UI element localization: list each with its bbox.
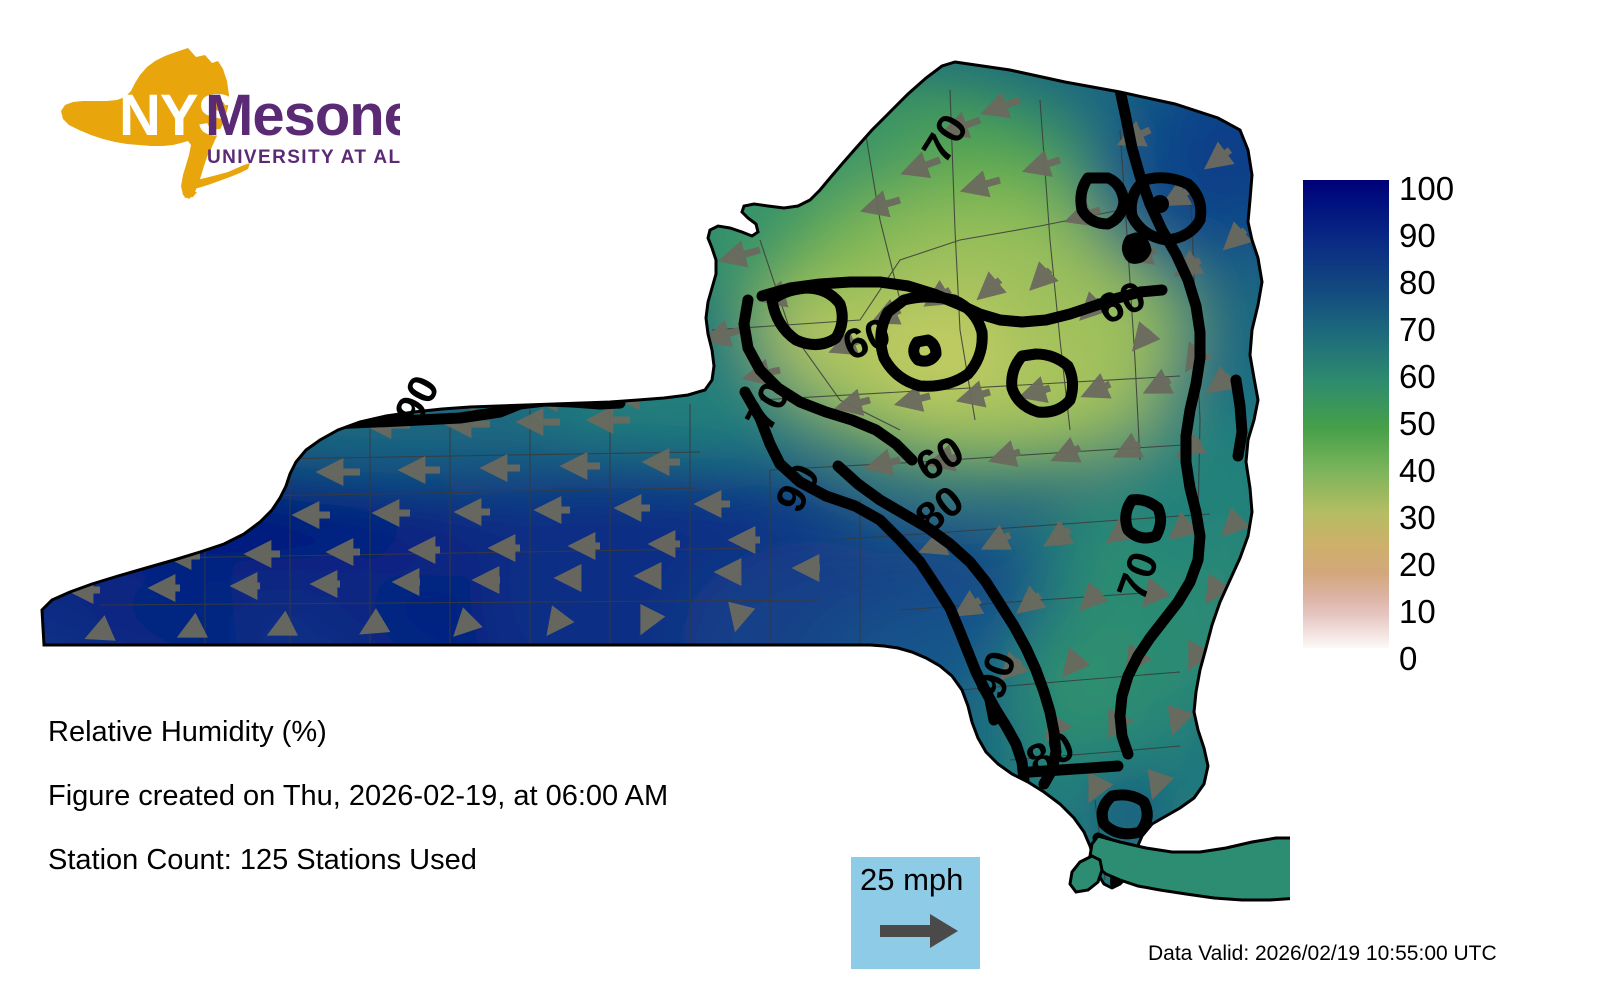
colorbar-tick-90: 90 — [1399, 219, 1436, 252]
station-count: Station Count: 125 Stations Used — [48, 846, 848, 875]
colorbar-tick-40: 40 — [1399, 454, 1436, 487]
colorbar-gradient — [1303, 180, 1389, 648]
colorbar-tick-labels: 100 90 80 70 60 50 40 30 20 10 0 — [1399, 172, 1519, 657]
wind-speed-legend: 25 mph — [851, 857, 980, 969]
page-title: Relative Humidity (%) — [48, 718, 848, 747]
colorbar-tick-0: 0 — [1399, 642, 1417, 675]
wind-arrow-icon — [878, 911, 960, 951]
colorbar: 100 90 80 70 60 50 40 30 20 10 0 — [1303, 172, 1593, 657]
colorbar-tick-50: 50 — [1399, 407, 1436, 440]
colorbar-tick-100: 100 — [1399, 172, 1454, 205]
colorbar-tick-70: 70 — [1399, 313, 1436, 346]
colorbar-tick-30: 30 — [1399, 501, 1436, 534]
colorbar-tick-20: 20 — [1399, 548, 1436, 581]
figure-captions: Relative Humidity (%) Figure created on … — [48, 718, 848, 910]
colorbar-tick-10: 10 — [1399, 595, 1436, 628]
data-valid-timestamp: Data Valid: 2026/02/19 10:55:00 UTC — [1148, 942, 1497, 966]
creation-timestamp: Figure created on Thu, 2026-02-19, at 06… — [48, 782, 848, 811]
wind-legend-label: 25 mph — [860, 862, 963, 898]
weather-map-figure: NYS Mesonet UNIVERSITY AT ALBANY — [0, 0, 1600, 1000]
colorbar-tick-60: 60 — [1399, 360, 1436, 393]
colorbar-tick-80: 80 — [1399, 266, 1436, 299]
